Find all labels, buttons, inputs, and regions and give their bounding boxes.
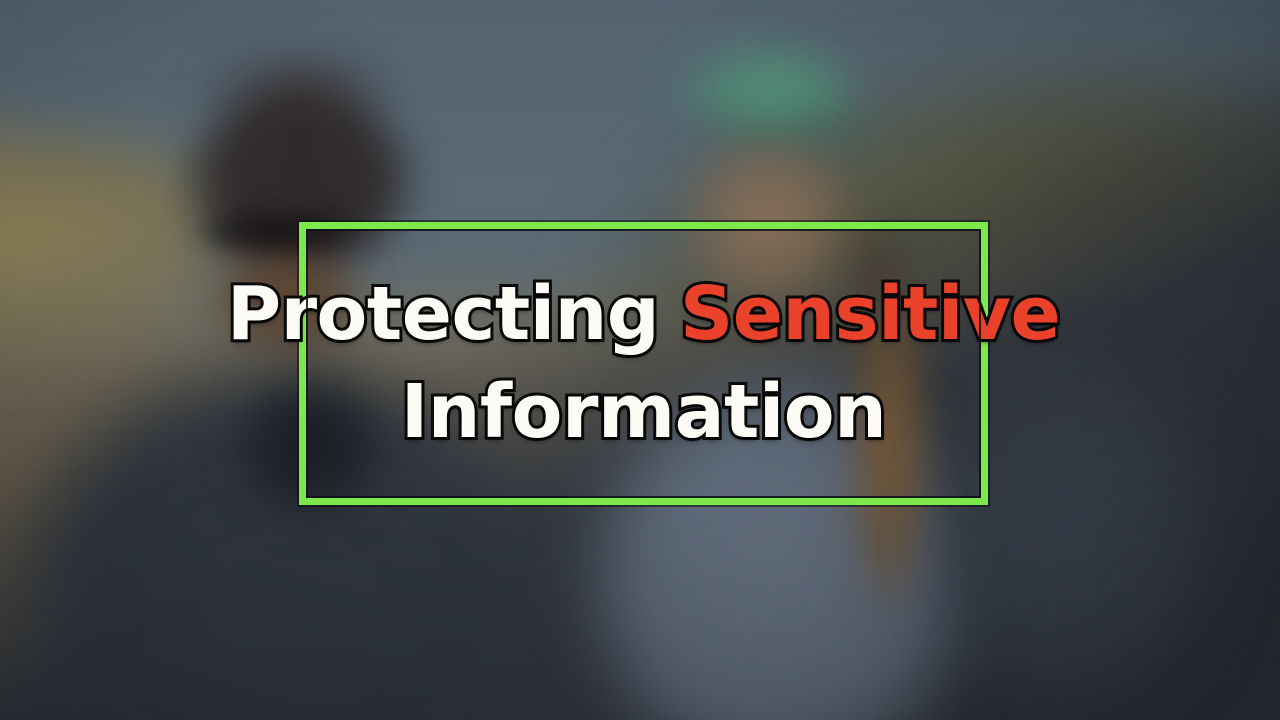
title-line-2: Information — [401, 375, 887, 450]
thumbnail-stage: ProtectingSensitive Information — [0, 0, 1280, 720]
title-word-sensitive: Sensitive — [680, 271, 1060, 357]
title-card: ProtectingSensitive Information — [299, 222, 988, 505]
title-word-information: Information — [401, 369, 887, 455]
title-line-1: ProtectingSensitive — [227, 277, 1060, 352]
title-word-protecting: Protecting — [227, 271, 659, 357]
